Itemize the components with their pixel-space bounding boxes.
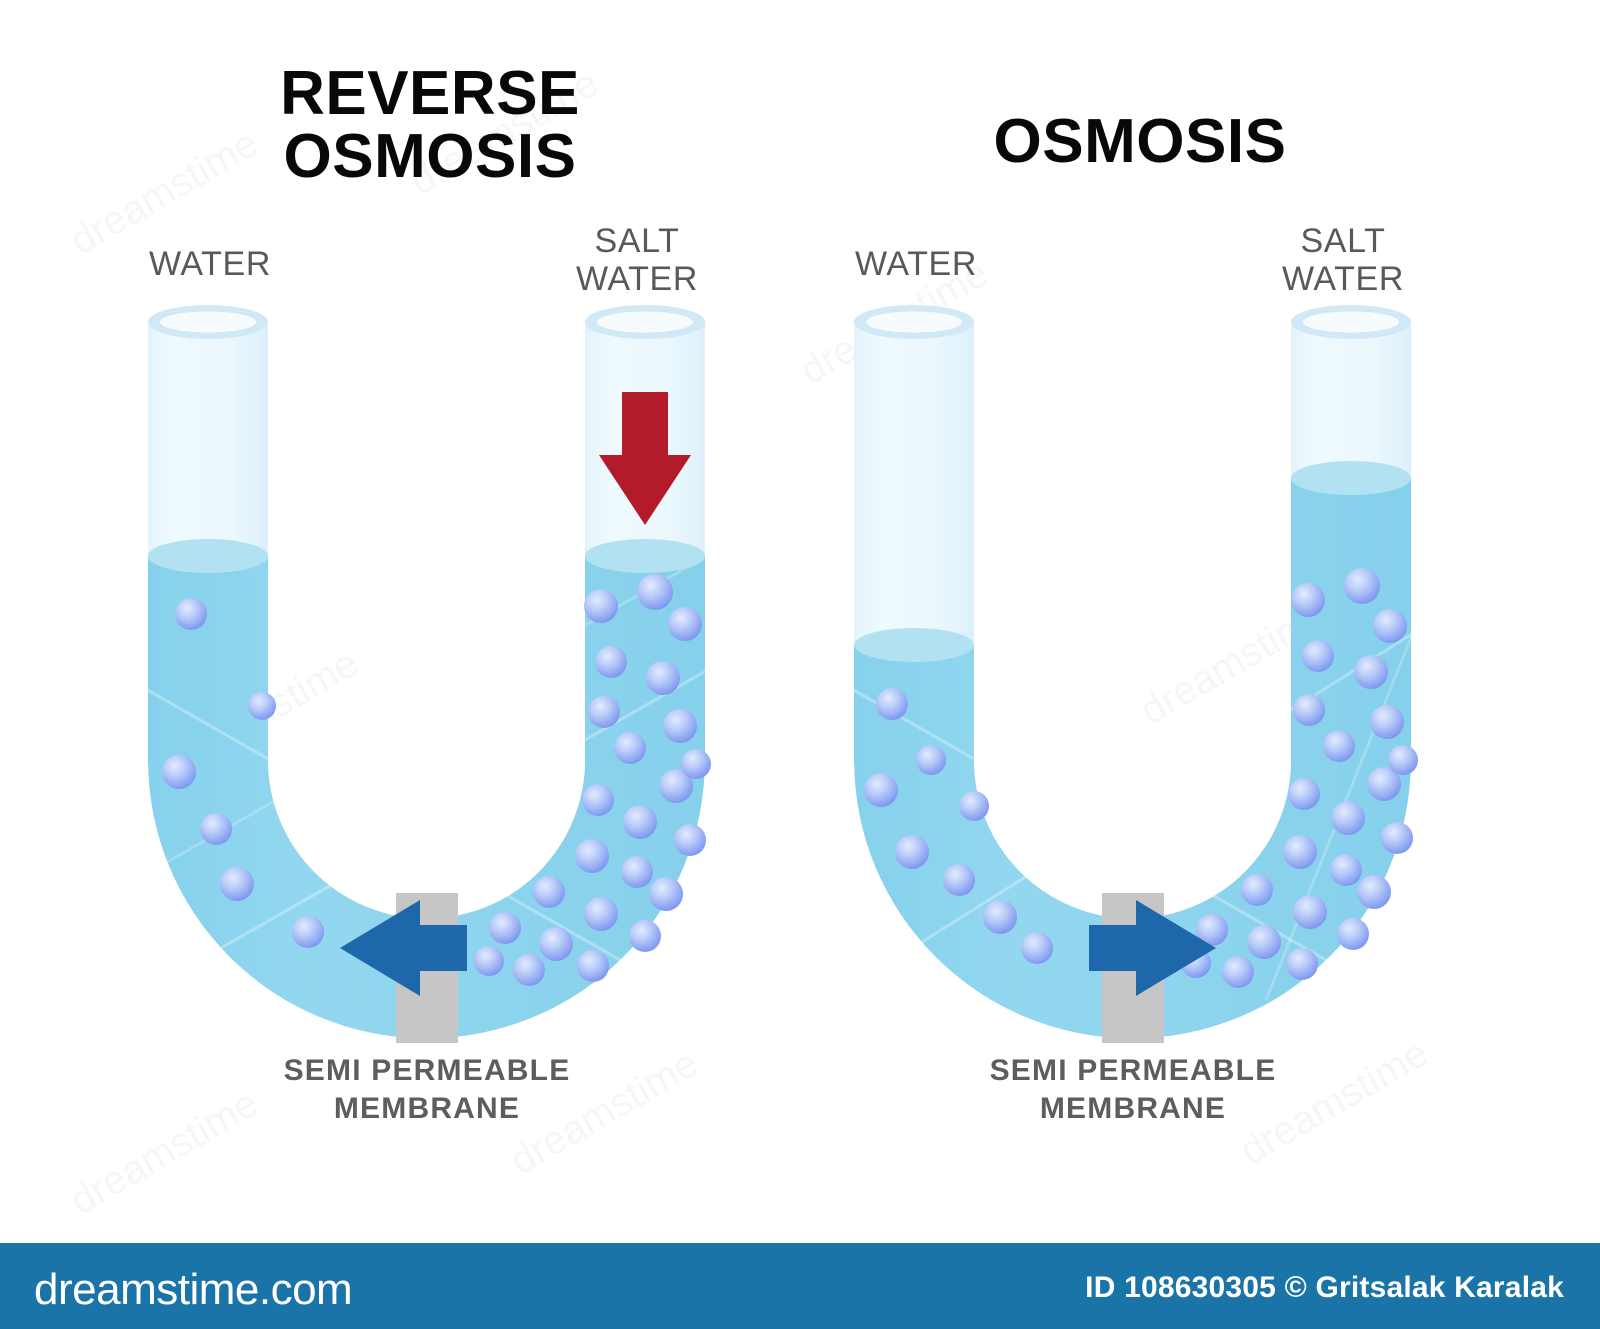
- caption-semi-permeable-membrane: SEMI PERMEABLE MEMBRANE: [227, 1052, 627, 1127]
- dreamstime-logo[interactable]: dreamstime.com: [34, 1265, 352, 1315]
- apparatus-reverse-osmosis: WATER SALT WATER: [0, 0, 800, 1120]
- utube-graphic-reverse-osmosis: [0, 0, 800, 1120]
- utube-graphic-osmosis: [706, 0, 1506, 1120]
- image-credit: ID 108630305 © Gritsalak Karalak: [1085, 1271, 1564, 1305]
- footer-bar: dreamstime.com ID 108630305 © Gritsalak …: [0, 1243, 1600, 1329]
- apparatus-osmosis: WATER SALT WATER: [706, 0, 1506, 1120]
- diagram-canvas: dreamstime dreamstime dreamstime dreamst…: [0, 0, 1600, 1329]
- caption-semi-permeable-membrane: SEMI PERMEABLE MEMBRANE: [933, 1052, 1333, 1127]
